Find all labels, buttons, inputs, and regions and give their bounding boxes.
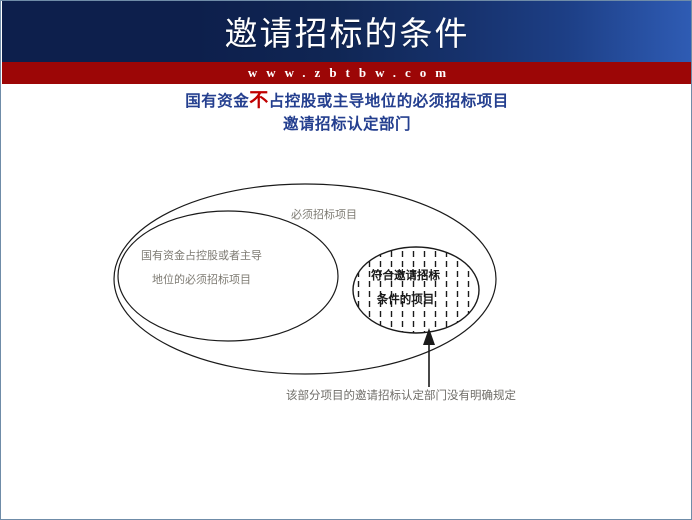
venn-diagram-shapes (1, 151, 692, 421)
subtitle-line-2: 邀请招标认定部门 (2, 113, 692, 136)
website-url-band: www.zbtbw.com (2, 62, 692, 84)
inner-ellipse-label-line-1: 符合邀请招标 (371, 264, 440, 288)
subtitle-line-1: 国有资金不占控股或主导地位的必须招标项目 (2, 89, 692, 113)
outer-ellipse-label: 必须招标项目 (291, 206, 357, 225)
subtitle-line-1-after: 占控股或主导地位的必须招标项目 (269, 93, 509, 110)
middle-ellipse-label-line-1: 国有资金占控股或者主导 (141, 244, 262, 268)
website-url-text: www.zbtbw.com (239, 65, 455, 81)
subtitle-block: 国有资金不占控股或主导地位的必须招标项目 邀请招标认定部门 (2, 89, 692, 136)
page-title: 邀请招标的条件 (2, 1, 692, 62)
diagram-caption: 该部分项目的邀请招标认定部门没有明确规定 (286, 387, 516, 403)
inner-ellipse-label: 符合邀请招标 条件的项目 (371, 264, 440, 312)
slide-header-band: 邀请招标的条件 (2, 1, 692, 62)
middle-ellipse-label-line-2: 地位的必须招标项目 (141, 268, 262, 292)
inner-ellipse-label-line-2: 条件的项目 (371, 288, 440, 312)
subtitle-line-1-before: 国有资金 (185, 93, 249, 110)
presentation-slide: 邀请招标的条件 www.zbtbw.com 国有资金不占控股或主导地位的必须招标… (0, 0, 692, 520)
subtitle-negation-accent: 不 (249, 90, 269, 111)
callout-arrow (423, 328, 435, 387)
middle-ellipse-label: 国有资金占控股或者主导 地位的必须招标项目 (141, 244, 262, 292)
venn-diagram: 必须招标项目 国有资金占控股或者主导 地位的必须招标项目 符合邀请招标 条件的项… (1, 151, 692, 421)
